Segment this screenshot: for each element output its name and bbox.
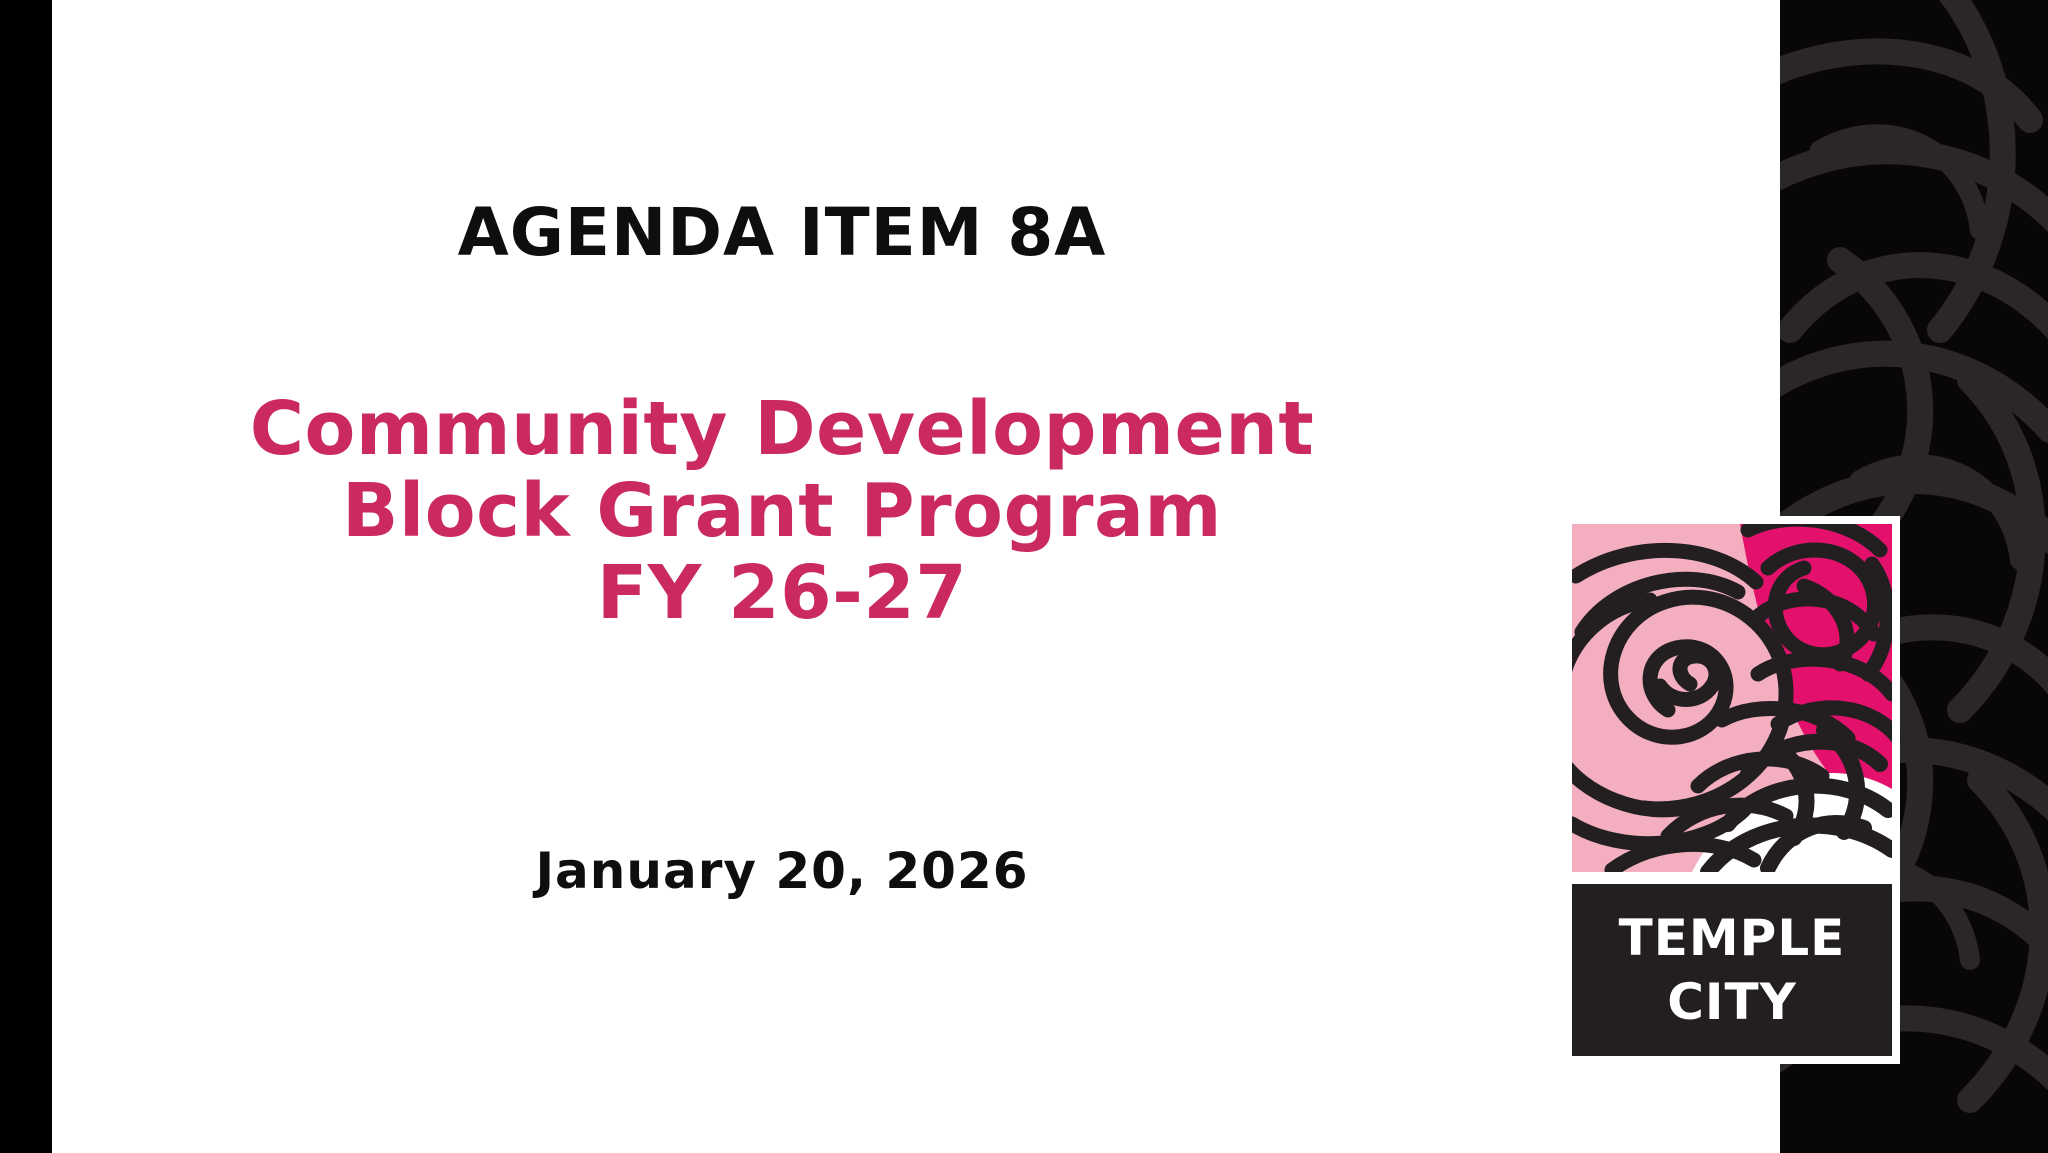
program-title: Community Development Block Grant Progra…: [52, 392, 1512, 638]
slide-content-area: AGENDA ITEM 8A Community Development Blo…: [52, 0, 1780, 1153]
left-black-bar: [0, 0, 52, 1153]
page-title: AGENDA ITEM 8A: [52, 198, 1512, 267]
program-title-line-2: Block Grant Program: [52, 474, 1512, 548]
logo-wordmark-line-2: CITY: [1667, 977, 1797, 1027]
presentation-date: January 20, 2026: [52, 842, 1512, 900]
logo-inner: TEMPLE CITY: [1572, 524, 1892, 1056]
logo-wordmark: TEMPLE CITY: [1572, 884, 1892, 1056]
camellia-rose-graphic: [1572, 524, 1892, 872]
camellia-rose-icon: [1572, 524, 1892, 872]
logo-wordmark-line-1: TEMPLE: [1619, 913, 1846, 963]
program-title-line-1: Community Development: [52, 392, 1512, 466]
presentation-slide: AGENDA ITEM 8A Community Development Blo…: [0, 0, 2048, 1153]
temple-city-logo: TEMPLE CITY: [1564, 516, 1900, 1064]
program-title-line-3: FY 26-27: [52, 556, 1512, 630]
